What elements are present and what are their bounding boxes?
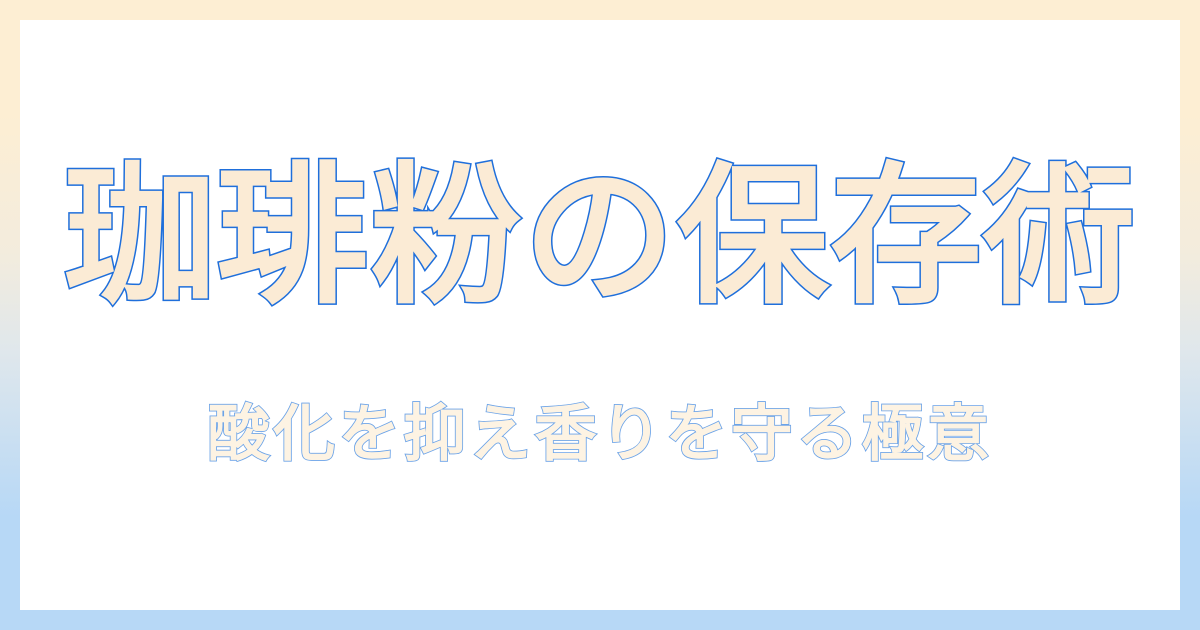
content-card: 珈琲粉の保存術 酸化を抑え香りを守る極意 (20, 20, 1180, 610)
subtitle-block: 酸化を抑え香りを守る極意 (20, 400, 1180, 468)
page-title: 珈琲粉の保存術 (64, 152, 1137, 322)
banner-canvas: 珈琲粉の保存術 酸化を抑え香りを守る極意 (0, 0, 1200, 630)
title-block: 珈琲粉の保存術 (20, 152, 1180, 322)
page-subtitle: 酸化を抑え香りを守る極意 (208, 400, 993, 468)
